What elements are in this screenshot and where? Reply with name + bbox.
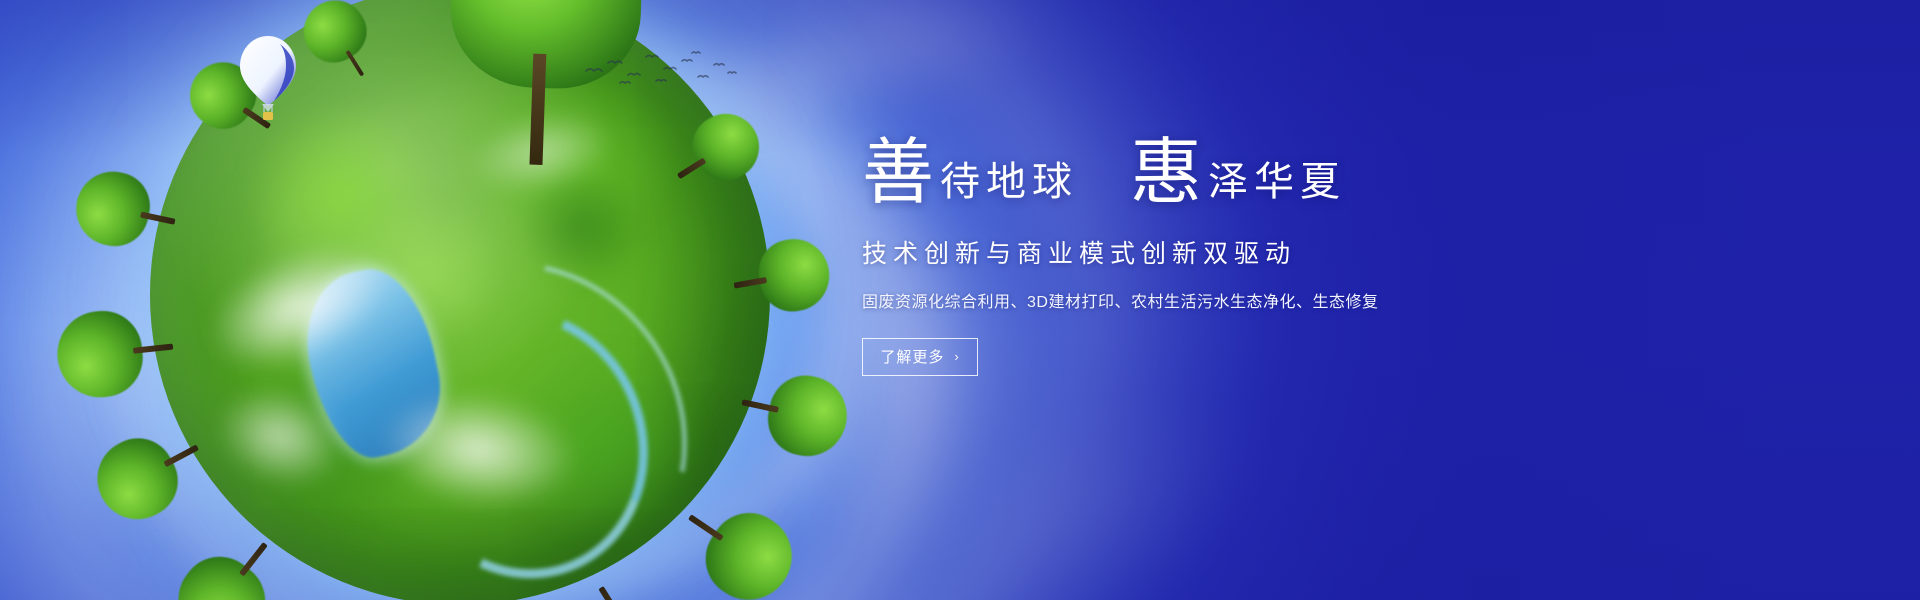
headline-char-2: 惠 [1130, 140, 1202, 208]
tree-icon [53, 304, 173, 401]
headline-rest-2: 泽华夏 [1208, 162, 1346, 208]
hot-air-balloon-icon [236, 34, 300, 130]
banner-text-block: 善 待地球 惠 泽华夏 技术创新与商业模式创新双驱动 固废资源化综合利用、3D建… [862, 140, 1562, 376]
headline-rest-1: 待地球 [940, 162, 1078, 208]
headline: 善 待地球 惠 泽华夏 [862, 140, 1562, 208]
learn-more-label: 了解更多 [880, 346, 944, 367]
learn-more-button[interactable]: 了解更多 › [862, 338, 978, 376]
banner-description: 固废资源化综合利用、3D建材打印、农村生活污水生态净化、生态修复 [862, 288, 1562, 312]
chevron-right-icon: › [954, 350, 959, 363]
hero-banner: 善 待地球 惠 泽华夏 技术创新与商业模式创新双驱动 固废资源化综合利用、3D建… [0, 0, 1920, 600]
birds-icon [580, 45, 740, 95]
headline-char-1: 善 [862, 140, 934, 208]
banner-subtitle: 技术创新与商业模式创新双驱动 [862, 234, 1562, 270]
